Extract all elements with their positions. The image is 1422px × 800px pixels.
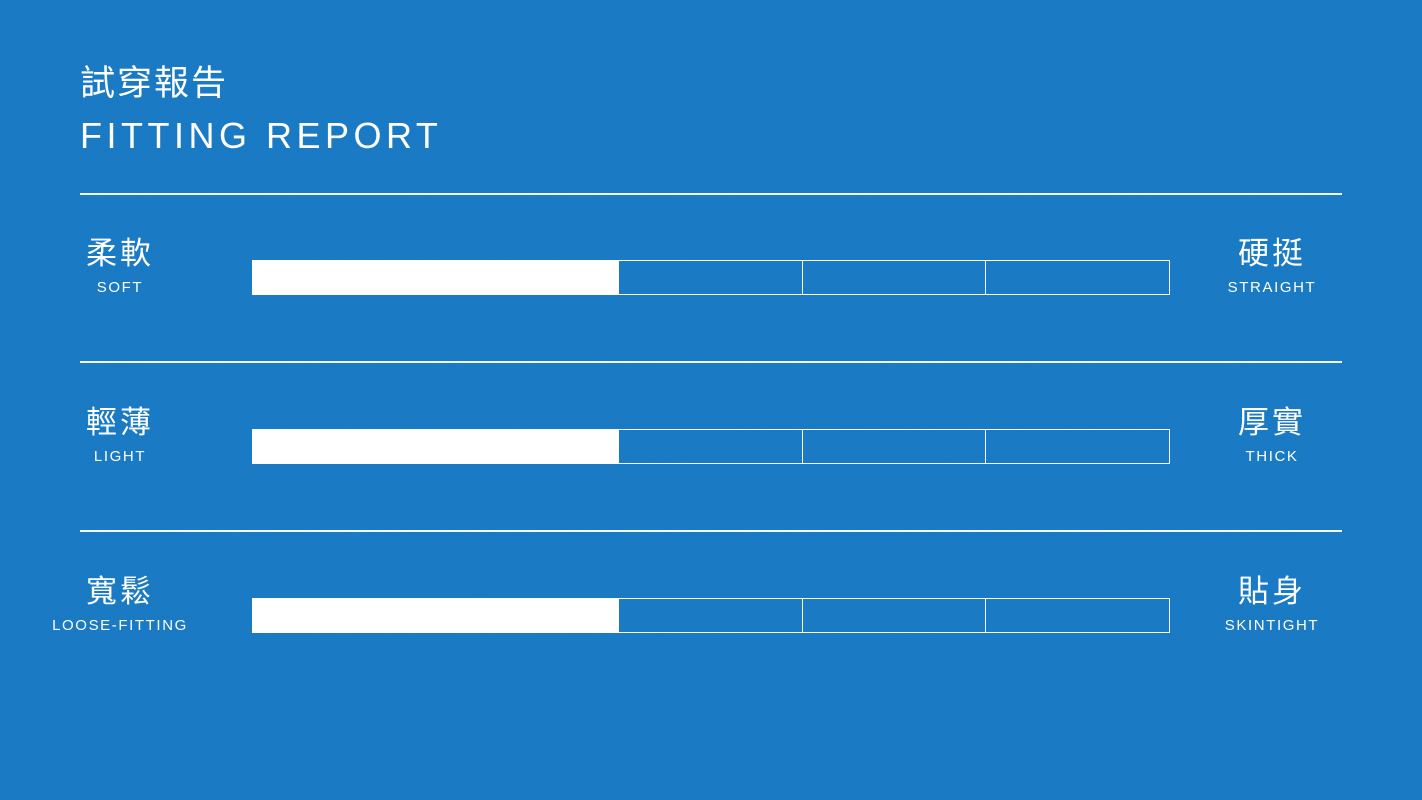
rating-segment[interactable] [252, 260, 436, 295]
rating-segment[interactable] [802, 260, 986, 295]
divider-bottom [80, 530, 1342, 532]
scale-left-label-cjk: 輕薄 [0, 402, 250, 444]
page-header: 試穿報告 FITTING REPORT [80, 62, 442, 160]
scale-right-label-en: THICK [1142, 446, 1402, 468]
scale-right-label-cjk: 硬挺 [1142, 233, 1402, 275]
rating-bar-light-thick[interactable] [252, 429, 1170, 464]
rating-segment[interactable] [436, 598, 619, 633]
scale-right-label-cjk: 厚實 [1142, 402, 1402, 444]
scale-left-label-loose: 寬鬆 LOOSE-FITTING [0, 571, 250, 637]
page-title-en: FITTING REPORT [80, 112, 442, 160]
rating-segment[interactable] [618, 598, 802, 633]
scale-right-label-en: STRAIGHT [1142, 277, 1402, 299]
divider-top [80, 193, 1342, 195]
scale-left-label-soft: 柔軟 SOFT [0, 233, 250, 299]
scale-left-label-en: LOOSE-FITTING [0, 615, 250, 637]
scale-left-label-light: 輕薄 LIGHT [0, 402, 250, 468]
scale-row-soft-straight: 柔軟 SOFT 硬挺 STRAIGHT [0, 233, 1422, 323]
scale-right-label-straight: 硬挺 STRAIGHT [1142, 233, 1402, 299]
scale-left-label-cjk: 柔軟 [0, 233, 250, 275]
rating-bar-soft-straight[interactable] [252, 260, 1170, 295]
rating-segment[interactable] [436, 260, 619, 295]
scale-left-label-en: SOFT [0, 277, 250, 299]
rating-segment[interactable] [436, 429, 619, 464]
page-title-cjk: 試穿報告 [80, 62, 442, 106]
scale-left-label-cjk: 寬鬆 [0, 571, 250, 613]
divider-middle [80, 361, 1342, 363]
scale-right-label-skintight: 貼身 SKINTIGHT [1142, 571, 1402, 637]
rating-segment[interactable] [618, 429, 802, 464]
rating-bar-loose-skintight[interactable] [252, 598, 1170, 633]
rating-segment[interactable] [618, 260, 802, 295]
scale-right-label-cjk: 貼身 [1142, 571, 1402, 613]
scale-row-light-thick: 輕薄 LIGHT 厚實 THICK [0, 402, 1422, 492]
rating-segment[interactable] [252, 429, 436, 464]
scale-left-label-en: LIGHT [0, 446, 250, 468]
rating-segment[interactable] [802, 429, 986, 464]
rating-segment[interactable] [802, 598, 986, 633]
scale-right-label-en: SKINTIGHT [1142, 615, 1402, 637]
scale-row-loose-skintight: 寬鬆 LOOSE-FITTING 貼身 SKINTIGHT [0, 571, 1422, 661]
rating-segment[interactable] [252, 598, 436, 633]
scale-right-label-thick: 厚實 THICK [1142, 402, 1402, 468]
